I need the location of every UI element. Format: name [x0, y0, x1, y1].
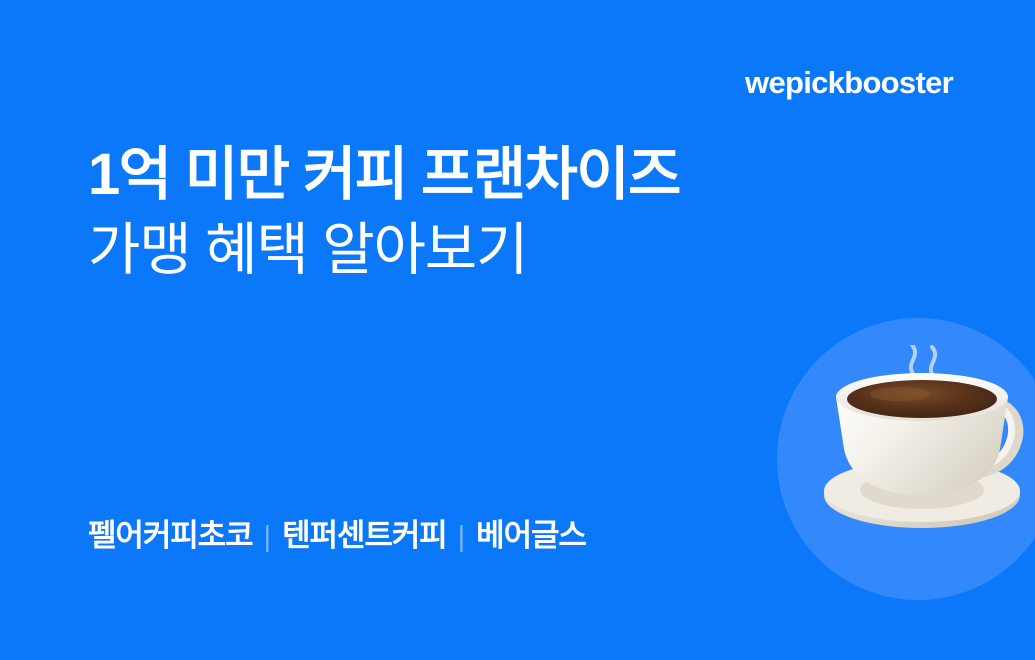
headline-line-2: 가맹 혜택 알아보기: [88, 212, 808, 288]
promo-banner: wepickbooster 1억 미만 커피 프랜차이즈 가맹 혜택 알아보기 …: [0, 0, 1035, 660]
brand-name-2: 텐퍼센트커피: [282, 513, 447, 559]
brand-name-3: 베어글스: [476, 513, 586, 559]
brand-name-1: 펠어커피초코: [88, 513, 253, 559]
brand-separator-2: |: [458, 514, 466, 560]
brand-separator-1: |: [264, 514, 272, 560]
brand-list: 펠어커피초코 | 텐퍼센트커피 | 베어글스: [88, 513, 586, 560]
headline-block: 1억 미만 커피 프랜차이즈 가맹 혜택 알아보기: [88, 138, 808, 288]
hot-beverage-icon: [818, 345, 1033, 550]
headline-line-1: 1억 미만 커피 프랜차이즈: [88, 138, 808, 212]
wepickbooster-logo: wepickbooster: [683, 64, 953, 102]
